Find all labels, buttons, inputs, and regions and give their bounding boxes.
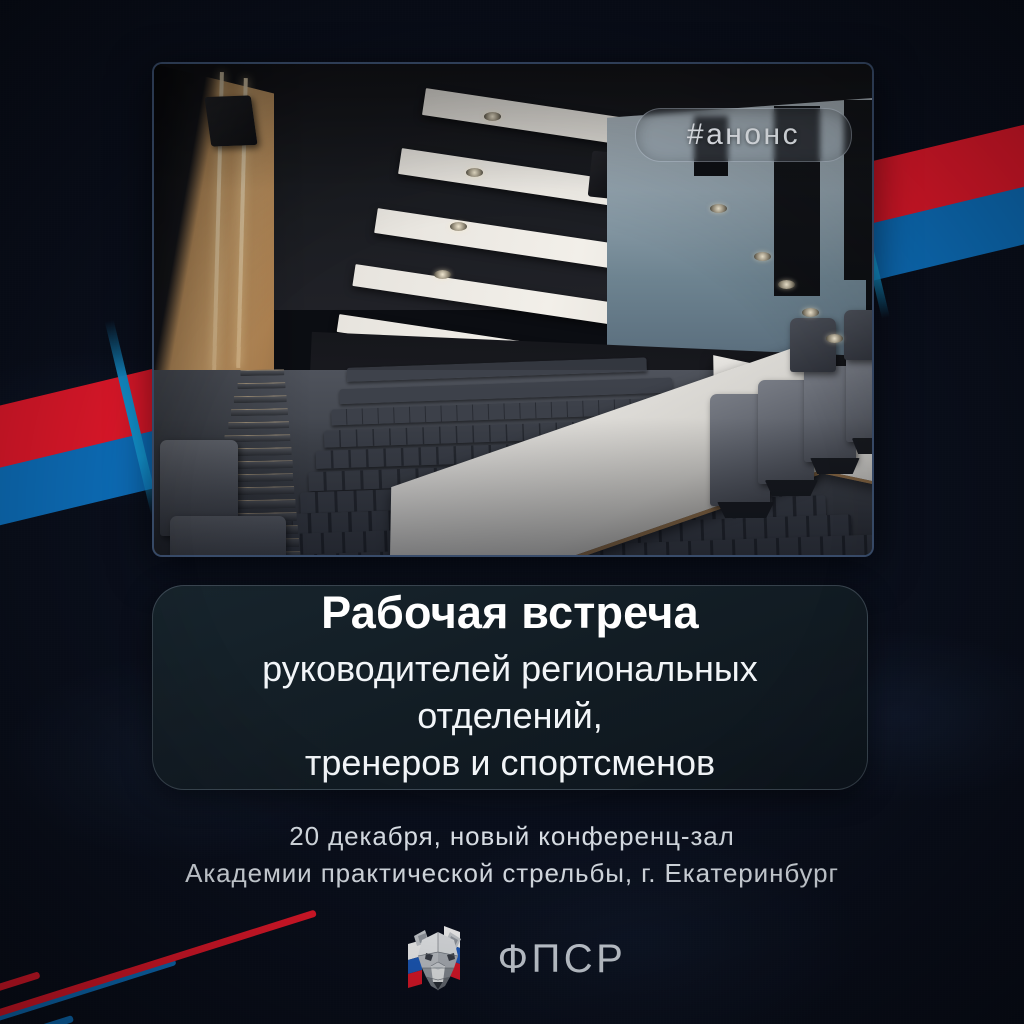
- photo-spotlight: [484, 112, 501, 121]
- announcement-badge: #анонс: [635, 108, 852, 162]
- photo-chair-base: [765, 480, 818, 496]
- title-card: Рабочая встреча руководителей региональн…: [152, 585, 868, 790]
- photo-stair-step: [228, 421, 289, 429]
- photo-spotlight: [434, 270, 451, 279]
- event-venue-block: 20 декабря, новый конференц-зал Академии…: [0, 818, 1024, 892]
- poster-canvas: #анонс Рабочая встреча руководителей рег…: [0, 0, 1024, 1024]
- photo-spotlight: [466, 168, 483, 177]
- photo-stair-step: [231, 408, 288, 416]
- photo-office-chair: [170, 516, 286, 555]
- photo-office-chair: [846, 354, 872, 442]
- photo-stair-step: [237, 382, 285, 389]
- photo-spotlight: [778, 280, 795, 289]
- photo-spotlight: [710, 204, 727, 213]
- photo-stair-step: [234, 395, 287, 402]
- photo-seat-row: [347, 357, 647, 381]
- photo-speaker-box: [204, 95, 257, 146]
- photo-chair-base: [717, 502, 774, 518]
- event-subtitle-line-1: руководителей региональных отделений,: [177, 646, 843, 740]
- organization-logo: ФПСР: [0, 922, 1024, 996]
- photo-office-chair: [790, 318, 836, 372]
- event-subtitle-line-2: тренеров и спортсменов: [305, 740, 715, 787]
- photo-spotlight: [754, 252, 771, 261]
- photo-spotlight: [802, 308, 819, 317]
- photo-spotlight: [826, 334, 843, 343]
- photo-stair-step: [240, 369, 284, 376]
- photo-office-chair: [844, 310, 872, 360]
- event-date-line: 20 декабря, новый конференц-зал: [0, 818, 1024, 855]
- announcement-badge-label: #анонс: [687, 118, 800, 152]
- photo-spotlight: [450, 222, 467, 231]
- organization-abbreviation: ФПСР: [498, 937, 627, 982]
- photo-chair-base: [810, 458, 859, 474]
- bear-head-flag-icon: [398, 922, 482, 996]
- event-title: Рабочая встреча: [321, 589, 699, 636]
- event-location-line: Академии практической стрельбы, г. Екате…: [0, 855, 1024, 892]
